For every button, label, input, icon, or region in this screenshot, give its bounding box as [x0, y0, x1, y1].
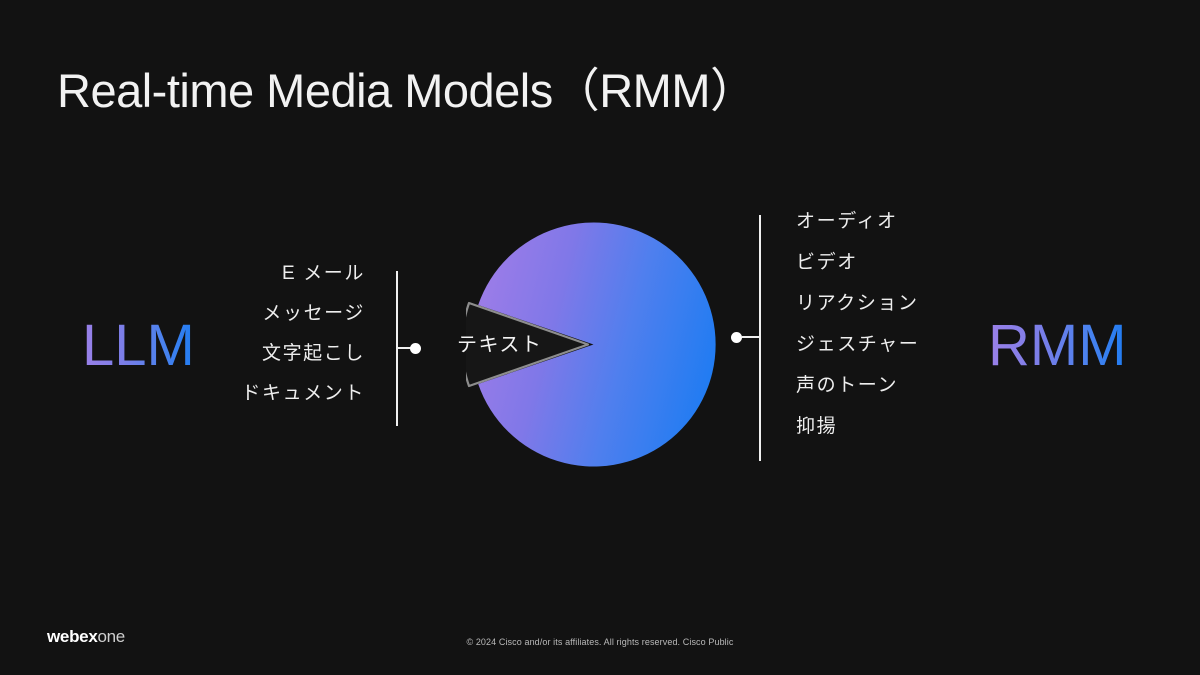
- list-item: ジェスチャー: [796, 335, 919, 354]
- list-item: ドキュメント: [241, 384, 365, 403]
- pie-slice-text-label: テキスト: [457, 328, 542, 357]
- list-item: リアクション: [796, 294, 919, 313]
- copyright-text: © 2024 Cisco and/or its affiliates. All …: [0, 637, 1200, 647]
- right-bracket-dot-icon: [731, 332, 742, 343]
- page-title: Real-time Media Models（RMM）: [57, 52, 757, 121]
- slide-canvas: Real-time Media Models（RMM） LLM E メール メッ…: [0, 0, 1200, 675]
- list-item: ビデオ: [796, 253, 858, 272]
- right-bracket-line: [759, 215, 761, 461]
- right-model-label: RMM: [988, 312, 1127, 379]
- list-item: 声のトーン: [796, 376, 898, 395]
- list-item: オーディオ: [796, 212, 898, 231]
- left-bracket-dot-icon: [410, 343, 421, 354]
- list-item: メッセージ: [262, 304, 365, 323]
- right-bracket-connector: [742, 336, 760, 338]
- list-item: E メール: [282, 264, 365, 283]
- list-item: 抑揚: [796, 417, 837, 436]
- list-item: 文字起こし: [262, 344, 365, 363]
- left-model-label: LLM: [82, 312, 195, 379]
- left-input-list: E メール メッセージ 文字起こし ドキュメント: [200, 264, 365, 403]
